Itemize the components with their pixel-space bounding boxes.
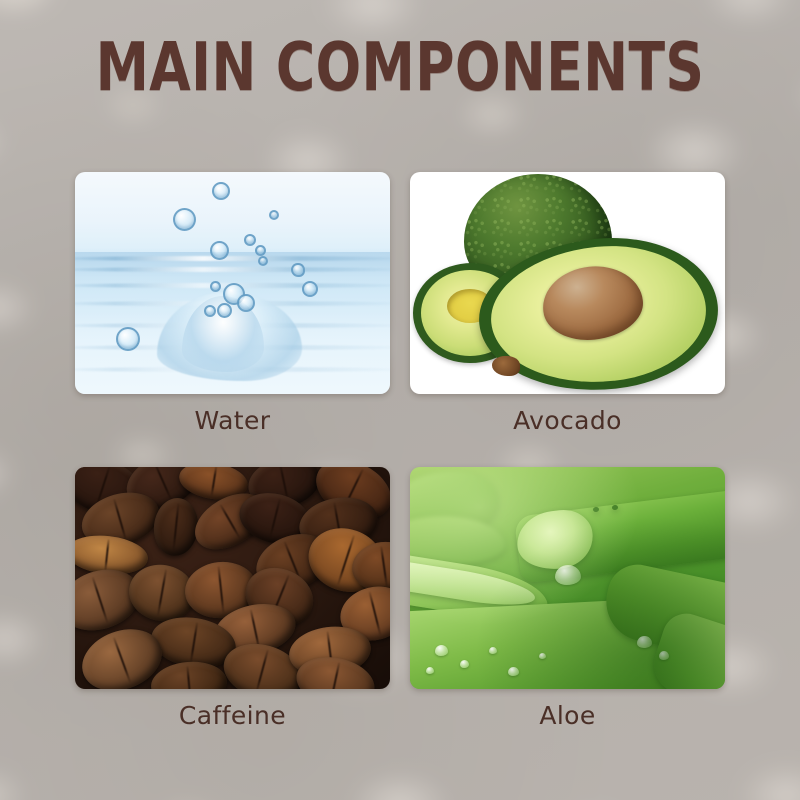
water-splash-photo: [75, 172, 390, 394]
water-bubble: [302, 281, 318, 297]
water-droplet: [637, 636, 652, 648]
component-label-aloe: Aloe: [410, 701, 725, 730]
aloe-spot: [611, 504, 618, 510]
water-bubble: [269, 210, 279, 220]
water-bubble: [173, 208, 196, 231]
aloe-gel-droplet: [555, 565, 581, 585]
water-bubble: [291, 263, 305, 277]
water-bubble: [217, 303, 232, 318]
water-droplet: [659, 651, 669, 660]
component-card-caffeine[interactable]: Caffeine: [75, 467, 390, 730]
water-droplet: [508, 667, 519, 676]
water-bubble: [244, 234, 256, 246]
component-label-caffeine: Caffeine: [75, 701, 390, 730]
roasted-coffee-beans-photo: [75, 467, 390, 689]
avocado-stem: [492, 356, 520, 376]
components-grid: Water Avocado: [75, 172, 725, 730]
water-droplet: [435, 645, 448, 656]
poster-canvas: MAIN COMPONENTS: [0, 0, 800, 800]
water-droplet: [426, 667, 434, 674]
component-label-water: Water: [75, 406, 390, 435]
component-card-aloe[interactable]: Aloe: [410, 467, 725, 730]
avocado-halves-photo: [410, 172, 725, 394]
water-bubble: [212, 182, 230, 200]
water-bubble: [255, 245, 266, 256]
component-label-avocado: Avocado: [410, 406, 725, 435]
water-droplet: [489, 647, 497, 654]
component-card-water[interactable]: Water: [75, 172, 390, 435]
page-title: MAIN COMPONENTS: [80, 34, 720, 101]
aloe-vera-leaves-photo: [410, 467, 725, 689]
component-card-avocado[interactable]: Avocado: [410, 172, 725, 435]
